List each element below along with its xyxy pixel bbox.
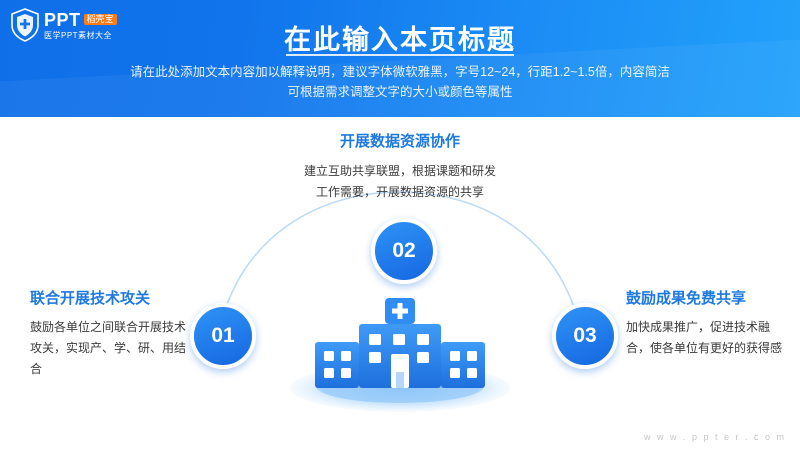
step-node-03[interactable]: 03	[552, 303, 618, 369]
slide-canvas: PPT 稻壳宝 医学PPT素材大全 在此输入本页标题 请在此处添加文本内容加以解…	[0, 0, 800, 450]
block-02-body-line-1: 建立互助共享联盟，根据课题和研发	[230, 161, 570, 182]
page-subtitle: 请在此处添加文本内容加以解释说明，建议字体微软雅黑，字号12~24，行距1.2~…	[0, 62, 800, 102]
content-block-02: 开展数据资源协作 建立互助共享联盟，根据课题和研发 工作需要，开展数据资源的共享	[230, 130, 570, 203]
block-02-heading: 开展数据资源协作	[230, 130, 570, 151]
step-node-01[interactable]: 01	[190, 303, 256, 369]
block-02-body-line-2: 工作需要，开展数据资源的共享	[230, 182, 570, 203]
block-03-body: 加快成果推广，促进技术融合，使各单位有更好的获得感	[626, 317, 786, 359]
watermark-text: w w w . p p t e r . c o m	[644, 432, 786, 442]
hospital-building-icon	[255, 290, 545, 420]
title-underline	[286, 54, 514, 56]
content-block-03: 鼓励成果免费共享 加快成果推广，促进技术融合，使各单位有更好的获得感	[626, 287, 786, 359]
content-block-01: 联合开展技术攻关 鼓励各单位之间联合开展技术攻关，实现产、学、研、用结合	[30, 287, 190, 380]
page-title: 在此输入本页标题	[0, 18, 800, 57]
block-03-heading: 鼓励成果免费共享	[626, 287, 786, 308]
header-banner: PPT 稻壳宝 医学PPT素材大全 在此输入本页标题 请在此处添加文本内容加以解…	[0, 0, 800, 117]
subtitle-line-2: 可根据需求调整文字的大小或颜色等属性	[0, 82, 800, 102]
block-01-body: 鼓励各单位之间联合开展技术攻关，实现产、学、研、用结合	[30, 317, 190, 380]
block-02-body: 建立互助共享联盟，根据课题和研发 工作需要，开展数据资源的共享	[230, 161, 570, 203]
block-01-heading: 联合开展技术攻关	[30, 287, 190, 308]
step-node-02[interactable]: 02	[371, 218, 437, 284]
subtitle-line-1: 请在此处添加文本内容加以解释说明，建议字体微软雅黑，字号12~24，行距1.2~…	[0, 62, 800, 82]
